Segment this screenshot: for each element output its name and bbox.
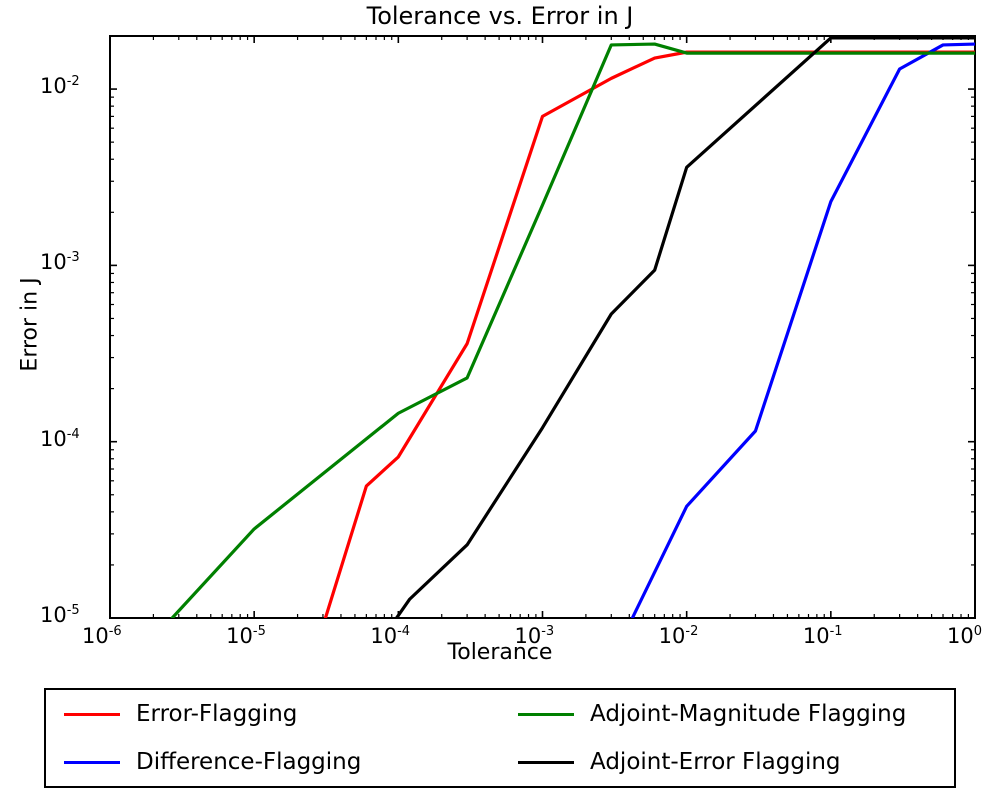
series-line-adjoint-error-flagging	[394, 38, 975, 622]
legend-label: Adjoint-Magnitude Flagging	[590, 701, 906, 727]
axis-ticks	[110, 36, 975, 618]
legend-color-swatch	[64, 761, 120, 764]
legend-color-swatch	[518, 713, 574, 716]
y-axis-label: Error in J	[18, 15, 43, 635]
series-lines	[172, 38, 975, 626]
legend-entry[interactable]: Difference-Flagging	[46, 749, 500, 775]
x-axis-label: Tolerance	[0, 640, 1000, 665]
y-tick-label: 10-3	[40, 250, 80, 274]
chart-legend: Error-FlaggingAdjoint-Magnitude Flagging…	[44, 688, 956, 788]
chart-canvas	[0, 0, 1000, 680]
legend-color-swatch	[64, 713, 120, 716]
legend-label: Adjoint-Error Flagging	[590, 749, 841, 775]
figure-root: Tolerance vs. Error in J 10-610-510-410-…	[0, 0, 1000, 800]
y-tick-label: 10-2	[40, 74, 80, 98]
axes-frame	[110, 36, 975, 618]
legend-entry[interactable]: Error-Flagging	[46, 701, 500, 727]
series-line-difference-flagging	[629, 44, 975, 624]
legend-entry[interactable]: Adjoint-Error Flagging	[500, 749, 954, 775]
y-tick-label: 10-4	[40, 427, 80, 451]
series-line-adjoint-magnitude-flagging	[172, 44, 975, 618]
legend-label: Error-Flagging	[136, 701, 297, 727]
y-tick-label: 10-5	[40, 603, 80, 627]
series-line-error-flagging	[323, 52, 975, 626]
legend-color-swatch	[518, 761, 574, 764]
plot-border	[110, 36, 975, 618]
legend-grid: Error-FlaggingAdjoint-Magnitude Flagging…	[46, 690, 954, 786]
chart-figure: Tolerance vs. Error in J 10-610-510-410-…	[0, 0, 1000, 680]
legend-label: Difference-Flagging	[136, 749, 361, 775]
legend-entry[interactable]: Adjoint-Magnitude Flagging	[500, 701, 954, 727]
